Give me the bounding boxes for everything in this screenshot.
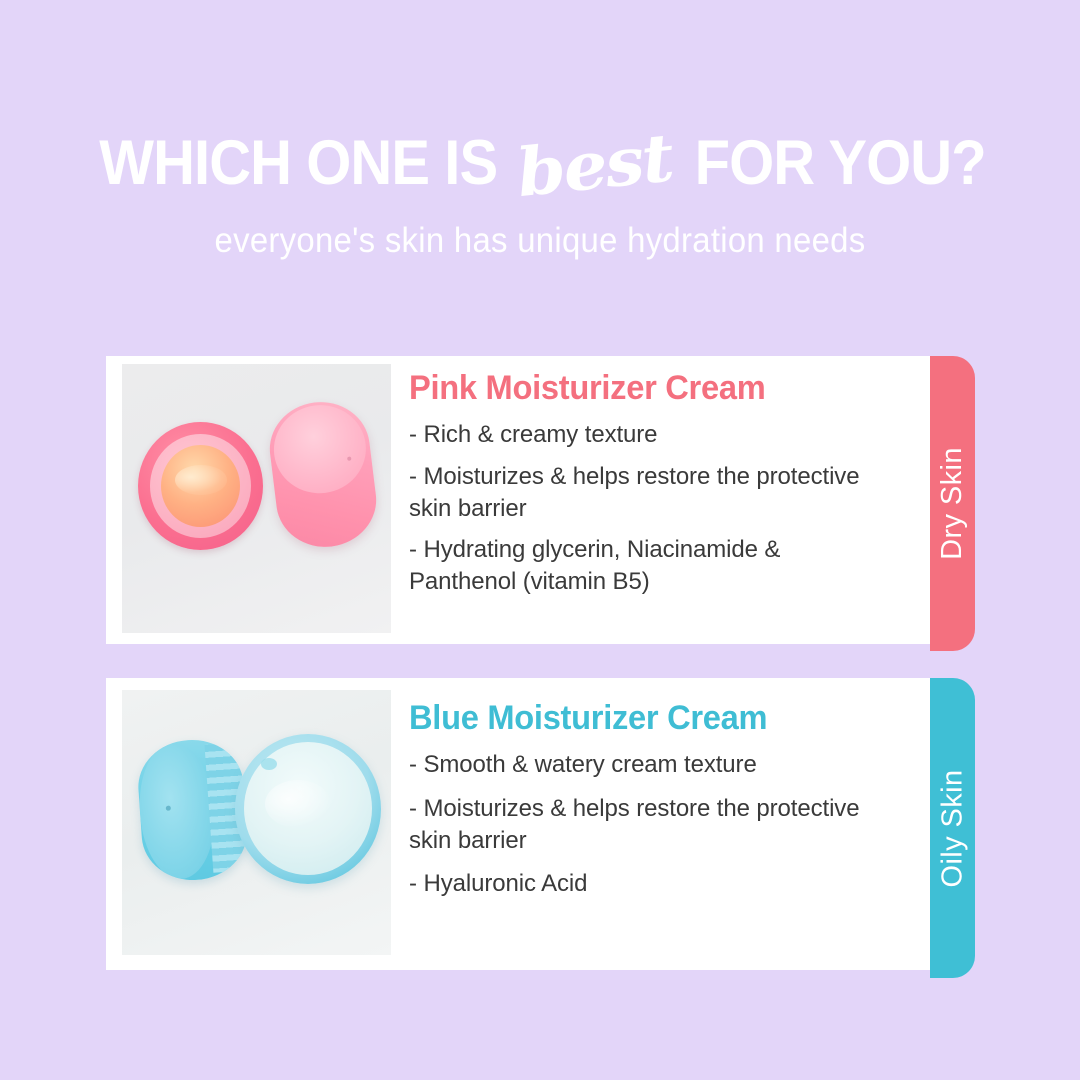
pink-jar-base-icon bbox=[138, 422, 263, 550]
blue-jar-lid-icon bbox=[135, 737, 250, 884]
list-item: - Moisturizes & helps restore the protec… bbox=[409, 793, 884, 856]
skin-type-tab-oily[interactable]: Oily Skin bbox=[930, 678, 975, 978]
headline-prefix: WHICH ONE IS bbox=[99, 132, 497, 195]
skin-type-tab-label: Dry Skin bbox=[936, 447, 969, 560]
page-title: WHICH ONE IS best FOR YOU? bbox=[0, 128, 1080, 195]
product-photo-pink bbox=[122, 364, 391, 633]
headline-script-word: best bbox=[504, 123, 686, 207]
product-title-blue: Blue Moisturizer Cream bbox=[409, 700, 911, 737]
list-item: - Moisturizes & helps restore the protec… bbox=[409, 461, 884, 524]
product-feature-list-pink: - Rich & creamy texture - Moisturizes & … bbox=[409, 419, 932, 597]
list-item: - Rich & creamy texture bbox=[409, 419, 884, 451]
pink-jar-lid-icon bbox=[265, 396, 382, 552]
page-header: WHICH ONE IS best FOR YOU? everyone's sk… bbox=[0, 0, 1080, 261]
product-card-blue[interactable]: Blue Moisturizer Cream - Smooth & watery… bbox=[106, 678, 932, 970]
product-card-pink[interactable]: Pink Moisturizer Cream - Rich & creamy t… bbox=[106, 356, 932, 644]
list-item: - Hydrating glycerin, Niacinamide & Pant… bbox=[409, 534, 884, 597]
blue-jar-body-icon bbox=[235, 734, 381, 884]
blue-cream-sheen bbox=[265, 780, 331, 828]
skin-type-tab-label: Oily Skin bbox=[936, 769, 969, 887]
headline-suffix: FOR YOU? bbox=[695, 132, 986, 195]
product-feature-list-blue: - Smooth & watery cream texture - Moistu… bbox=[409, 749, 932, 900]
product-photo-blue bbox=[122, 690, 391, 955]
list-item: - Hyaluronic Acid bbox=[409, 868, 884, 900]
product-title-pink: Pink Moisturizer Cream bbox=[409, 370, 911, 407]
skin-type-tab-dry[interactable]: Dry Skin bbox=[930, 356, 975, 651]
pink-jar-inner-rim bbox=[150, 434, 251, 538]
list-item: - Smooth & watery cream texture bbox=[409, 749, 884, 781]
pink-cream-surface bbox=[161, 445, 240, 527]
blue-cream-bubble bbox=[261, 758, 277, 770]
page-subtitle: everyone's skin has unique hydration nee… bbox=[32, 221, 1047, 261]
